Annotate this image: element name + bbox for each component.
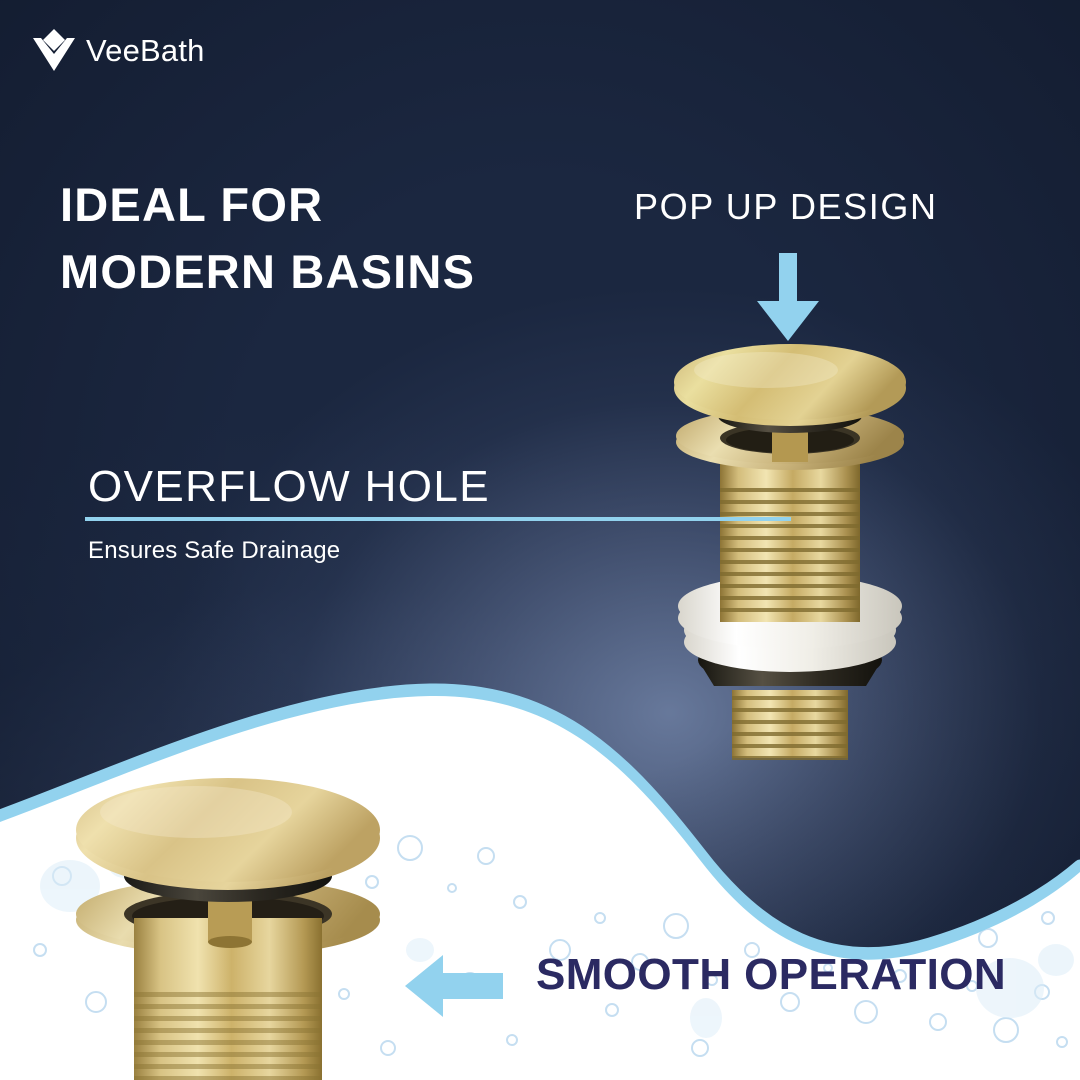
chevron-diamond-icon xyxy=(33,28,75,72)
marketing-banner: VeeBath IDEAL FOR MODERN BASINS POP UP D… xyxy=(0,0,1080,1080)
headline-line-1: IDEAL FOR xyxy=(60,172,475,239)
arrow-left-icon xyxy=(405,955,503,1017)
callout-smooth-label: SMOOTH OPERATION xyxy=(536,950,1006,1000)
page-title: IDEAL FOR MODERN BASINS xyxy=(60,172,475,305)
callout-popup-label: POP UP DESIGN xyxy=(634,186,938,228)
callout-overflow-title: OVERFLOW HOLE xyxy=(88,462,490,512)
callout-overflow-subtitle: Ensures Safe Drainage xyxy=(88,537,340,565)
brand-logo[interactable]: VeeBath xyxy=(33,28,205,72)
product-image-closeup xyxy=(10,742,450,1080)
product-image-full xyxy=(648,330,933,760)
callout-overflow-leader-line xyxy=(85,517,791,521)
arrow-down-icon xyxy=(757,253,819,341)
brand-name: VeeBath xyxy=(86,35,205,66)
headline-line-2: MODERN BASINS xyxy=(60,239,475,306)
